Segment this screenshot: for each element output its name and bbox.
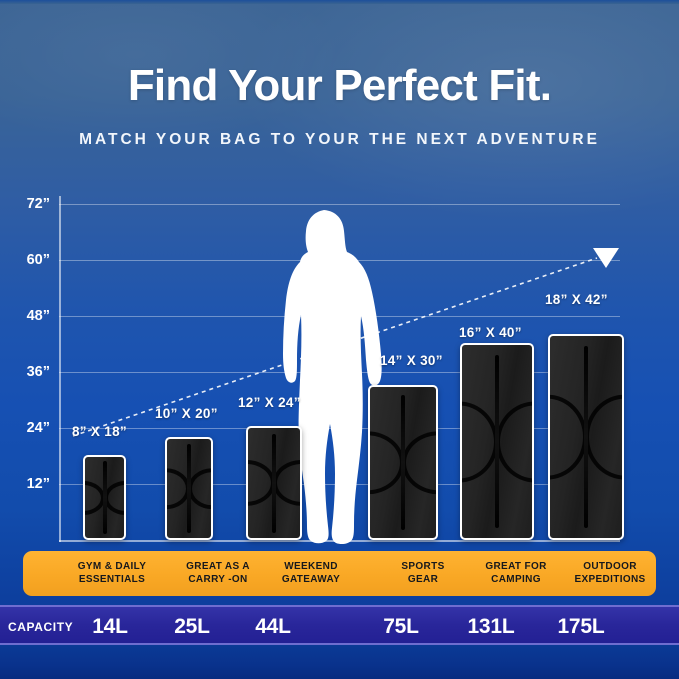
- use-case-4-line1: SPORTS: [401, 561, 444, 572]
- y-tick-24: 24”: [4, 420, 50, 436]
- use-case-1: GYM & DAILYESSENTIALS: [53, 551, 171, 596]
- bag-spine-icon: [187, 444, 191, 533]
- bag-label-3: 12” X 24”: [238, 395, 301, 410]
- y-tick-48: 48”: [4, 308, 50, 324]
- bag-bar-6[interactable]: [548, 334, 624, 540]
- bag-arc-left-icon: [246, 460, 275, 506]
- use-case-3-line1: WEEKEND: [284, 561, 338, 572]
- bag-arc-left-icon: [368, 431, 404, 494]
- bag-arc-left-icon: [460, 401, 498, 482]
- y-tick-12: 12”: [4, 476, 50, 492]
- use-case-3: WEEKENDGATEAWAY: [251, 551, 371, 596]
- bag-bar-2[interactable]: [165, 437, 213, 540]
- bag-spine-icon: [272, 434, 276, 533]
- bag-arc-right-icon: [402, 431, 438, 494]
- gridline-72: [59, 204, 620, 205]
- bag-spine-icon: [584, 346, 588, 528]
- use-case-4: SPORTSGEAR: [373, 551, 473, 596]
- bag-bar-1[interactable]: [83, 455, 126, 540]
- bag-label-4: 14” X 30”: [380, 353, 443, 368]
- bag-spine-icon: [103, 461, 107, 534]
- capacity-bar: CAPACITY 14L 25L 44L 75L 131L 175L: [0, 605, 679, 645]
- bag-arc-right-icon: [496, 401, 534, 482]
- use-case-6-line1: OUTDOOR: [583, 561, 637, 572]
- capacity-value-3: 44L: [238, 607, 308, 647]
- bag-bar-4[interactable]: [368, 385, 438, 540]
- use-case-1-line2: ESSENTIALS: [79, 574, 145, 585]
- y-tick-72: 72”: [4, 196, 50, 212]
- use-case-6: OUTDOOREXPEDITIONS: [551, 551, 669, 596]
- use-case-bar: GYM & DAILYESSENTIALS GREAT AS ACARRY -O…: [23, 551, 656, 596]
- capacity-value-6: 175L: [542, 607, 620, 647]
- capacity-value-2: 25L: [157, 607, 227, 647]
- capacity-value-5: 131L: [453, 607, 529, 647]
- y-tick-36: 36”: [4, 364, 50, 380]
- use-case-3-line2: GATEAWAY: [282, 574, 340, 585]
- use-case-1-line1: GYM & DAILY: [78, 561, 147, 572]
- bag-bar-3[interactable]: [246, 426, 302, 540]
- bag-spine-icon: [495, 355, 499, 529]
- y-axis-line: [59, 196, 61, 542]
- use-case-2-line2: CARRY -ON: [188, 574, 247, 585]
- use-case-6-line2: EXPEDITIONS: [574, 574, 645, 585]
- bag-label-2: 10” X 20”: [155, 406, 218, 421]
- bag-arc-right-icon: [104, 480, 126, 514]
- footer-strip: [0, 645, 679, 679]
- y-tick-60: 60”: [4, 252, 50, 268]
- infographic-page: Find Your Perfect Fit. MATCH YOUR BAG TO…: [0, 0, 679, 679]
- capacity-value-1: 14L: [75, 607, 145, 647]
- bag-spine-icon: [401, 395, 405, 531]
- use-case-4-line2: GEAR: [408, 574, 438, 585]
- bag-arc-right-icon: [585, 395, 624, 480]
- bag-arc-right-icon: [188, 468, 213, 510]
- capacity-row-label: CAPACITY: [8, 607, 73, 647]
- bag-arc-right-icon: [273, 460, 302, 506]
- bag-label-6: 18” X 42”: [545, 292, 608, 307]
- capacity-value-4: 75L: [366, 607, 436, 647]
- bag-label-5: 16” X 40”: [459, 325, 522, 340]
- use-case-2-line1: GREAT AS A: [186, 561, 250, 572]
- bag-arc-left-icon: [548, 395, 587, 480]
- bag-label-1: 8” X 18”: [72, 424, 127, 439]
- use-case-5-line1: GREAT FOR: [485, 561, 546, 572]
- use-case-5-line2: CAMPING: [491, 574, 541, 585]
- bag-bar-5[interactable]: [460, 343, 534, 540]
